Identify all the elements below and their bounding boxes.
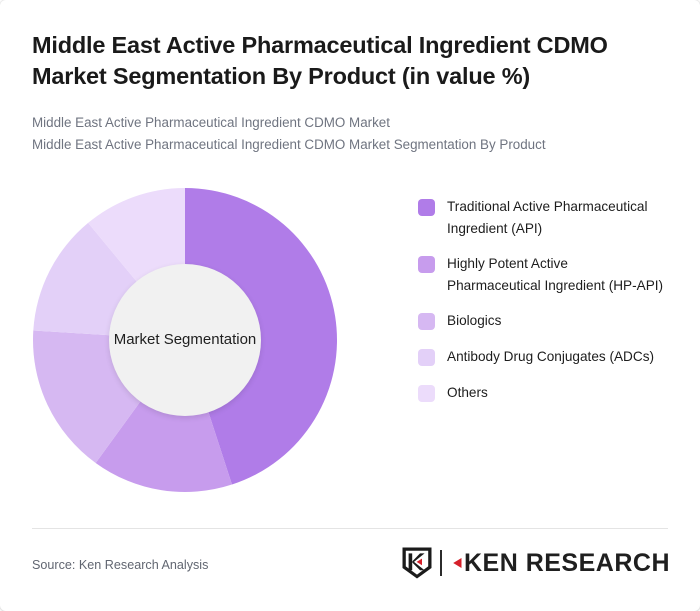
logo-wordmark: KEN RESEARCH xyxy=(450,549,670,578)
subtitle-line-2: Middle East Active Pharmaceutical Ingred… xyxy=(32,134,672,156)
legend-item[interactable]: Highly Potent Active Pharmaceutical Ingr… xyxy=(418,253,668,296)
legend-item-label: Others xyxy=(447,382,488,404)
legend-item-label: Biologics xyxy=(447,310,501,332)
legend-item[interactable]: Traditional Active Pharmaceutical Ingred… xyxy=(418,196,668,239)
subtitle-line-1: Middle East Active Pharmaceutical Ingred… xyxy=(32,112,672,134)
chart-legend: Traditional Active Pharmaceutical Ingred… xyxy=(418,196,668,417)
chart-card: Middle East Active Pharmaceutical Ingred… xyxy=(0,0,700,611)
ken-research-shield-k-logo-icon xyxy=(401,546,433,580)
legend-swatch-icon xyxy=(418,256,435,273)
donut-chart: Market Segmentation xyxy=(24,180,414,510)
brand-logo: KEN RESEARCH xyxy=(401,546,670,580)
legend-swatch-icon xyxy=(418,313,435,330)
legend-item-label: Antibody Drug Conjugates (ADCs) xyxy=(447,346,654,368)
legend-swatch-icon xyxy=(418,349,435,366)
source-note: Source: Ken Research Analysis xyxy=(32,558,208,572)
logo-triangle-icon xyxy=(450,555,463,571)
footer-divider xyxy=(32,528,668,529)
legend-swatch-icon xyxy=(418,385,435,402)
donut-center-label: Market Segmentation xyxy=(114,331,257,350)
legend-item-label: Traditional Active Pharmaceutical Ingred… xyxy=(447,196,665,239)
page-title: Middle East Active Pharmaceutical Ingred… xyxy=(32,30,672,93)
logo-divider xyxy=(440,550,442,576)
legend-item[interactable]: Antibody Drug Conjugates (ADCs) xyxy=(418,346,668,368)
legend-item[interactable]: Biologics xyxy=(418,310,668,332)
legend-swatch-icon xyxy=(418,199,435,216)
logo-wordmark-text: KEN RESEARCH xyxy=(464,549,670,578)
donut-wrap: Market Segmentation xyxy=(33,188,337,492)
legend-item-label: Highly Potent Active Pharmaceutical Ingr… xyxy=(447,253,665,296)
legend-item[interactable]: Others xyxy=(418,382,668,404)
subtitle-group: Middle East Active Pharmaceutical Ingred… xyxy=(32,112,672,155)
donut-center-hole: Market Segmentation xyxy=(109,264,261,416)
